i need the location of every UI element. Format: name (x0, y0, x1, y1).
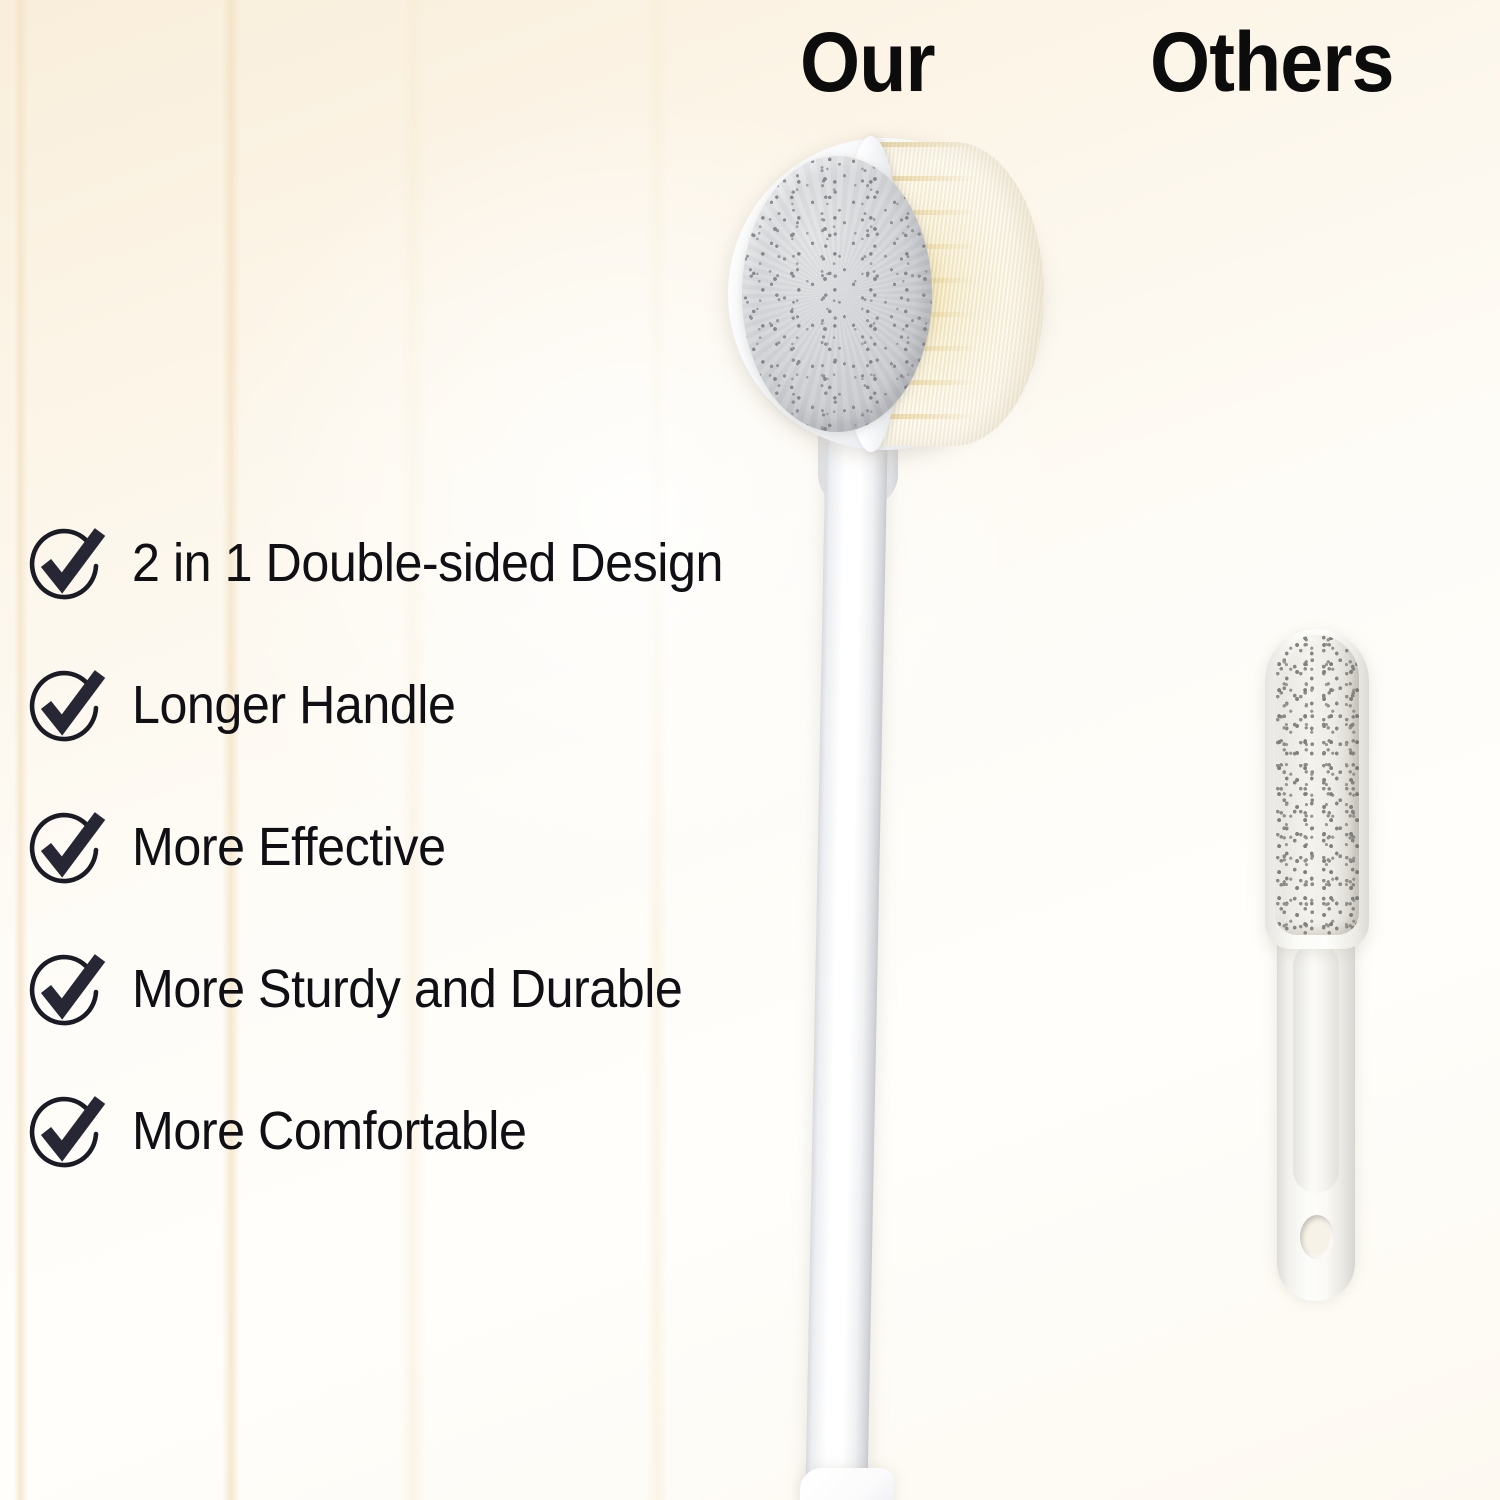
feature-item: More Comfortable (30, 1060, 810, 1202)
feature-label: 2 in 1 Double-sided Design (132, 536, 723, 590)
feature-item: 2 in 1 Double-sided Design (30, 492, 810, 634)
others-hanging-hole (1300, 1215, 1334, 1259)
our-brush-handle (805, 419, 888, 1500)
feature-item: More Effective (30, 776, 810, 918)
others-pumice-pad (1275, 635, 1359, 935)
check-circle-icon (30, 526, 104, 600)
check-circle-icon (30, 1094, 104, 1168)
background-streak (14, 0, 28, 1500)
handle-grip-recess (1293, 943, 1339, 1193)
feature-list: 2 in 1 Double-sided Design Longer Handle… (30, 492, 810, 1202)
heading-others: Others (1150, 14, 1394, 111)
heading-our: Our (800, 14, 935, 111)
our-product-image (700, 120, 1100, 1500)
our-brush-head (718, 134, 1048, 456)
feature-label: More Comfortable (132, 1104, 526, 1158)
feature-label: More Effective (132, 820, 446, 874)
check-circle-icon (30, 668, 104, 742)
feature-label: More Sturdy and Durable (132, 962, 682, 1016)
hook-tab (800, 1468, 894, 1500)
our-brush-hanging-hook (800, 1468, 894, 1500)
pumice-speckles (742, 156, 932, 432)
feature-item: More Sturdy and Durable (30, 918, 810, 1060)
check-circle-icon (30, 952, 104, 1026)
check-circle-icon (30, 810, 104, 884)
others-product-image (1255, 625, 1435, 1305)
pumice-speckles (1275, 635, 1359, 935)
feature-item: Longer Handle (30, 634, 810, 776)
product-comparison-image: Our Others 2 in 1 Double-sided Design Lo… (0, 0, 1500, 1500)
feature-label: Longer Handle (132, 678, 455, 732)
our-pumice-pad (742, 156, 932, 432)
